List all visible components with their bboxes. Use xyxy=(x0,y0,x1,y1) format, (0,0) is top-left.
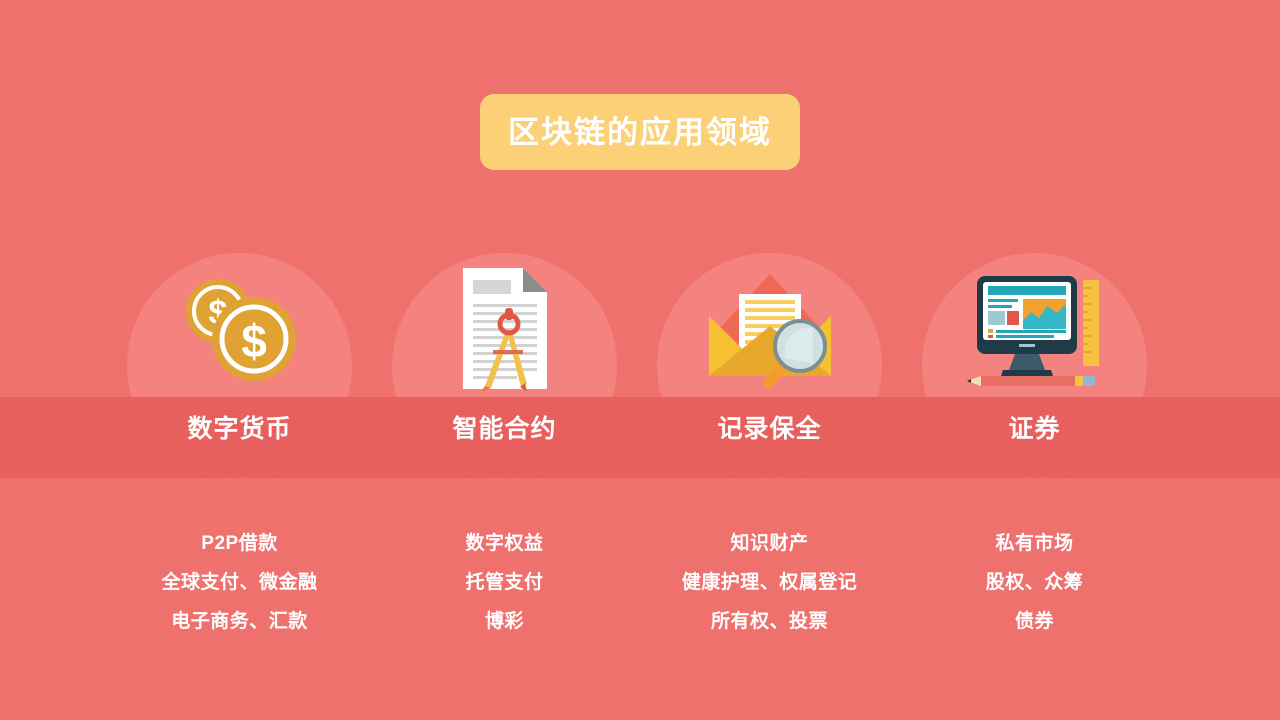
gold-coins-icon: $ $ xyxy=(127,253,352,403)
category-column-smart-contract[interactable]: 智能合约 数字权益 托管支付 博彩 xyxy=(372,253,637,641)
bullet-line: 健康护理、权属登记 xyxy=(637,563,902,602)
category-column-securities[interactable]: 证券 私有市场 股权、众筹 债券 xyxy=(902,253,1167,641)
category-columns: $ $ 数字货币 P2P借款 全球支付、微金融 电子商务、汇款 xyxy=(0,0,1280,720)
bullet-line: 全球支付、微金融 xyxy=(107,563,372,602)
category-circle: 智能合约 xyxy=(392,253,617,478)
monitor-chart-icon xyxy=(922,253,1147,403)
category-bullets: 私有市场 股权、众筹 债券 xyxy=(902,524,1167,641)
bullet-line: 电子商务、汇款 xyxy=(107,602,372,641)
svg-text:$: $ xyxy=(241,315,267,367)
category-bullets: 数字权益 托管支付 博彩 xyxy=(372,524,637,641)
category-label: 智能合约 xyxy=(392,403,617,451)
category-bullets: 知识财产 健康护理、权属登记 所有权、投票 xyxy=(637,524,902,641)
category-column-record-keeping[interactable]: 记录保全 知识财产 健康护理、权属登记 所有权、投票 xyxy=(637,253,902,641)
category-label: 记录保全 xyxy=(657,403,882,451)
document-compass-icon xyxy=(392,253,617,403)
category-circle: $ $ 数字货币 xyxy=(127,253,352,478)
bullet-line: 私有市场 xyxy=(902,524,1167,563)
category-circle: 证券 xyxy=(922,253,1147,478)
category-label: 证券 xyxy=(922,403,1147,451)
bullet-line: 股权、众筹 xyxy=(902,563,1167,602)
bullet-line: 博彩 xyxy=(372,602,637,641)
bullet-line: 所有权、投票 xyxy=(637,602,902,641)
envelope-magnifier-icon xyxy=(657,253,882,403)
category-label: 数字货币 xyxy=(127,403,352,451)
category-bullets: P2P借款 全球支付、微金融 电子商务、汇款 xyxy=(107,524,372,641)
bullet-line: 债券 xyxy=(902,602,1167,641)
category-circle: 记录保全 xyxy=(657,253,882,478)
bullet-line: 知识财产 xyxy=(637,524,902,563)
bullet-line: 数字权益 xyxy=(372,524,637,563)
bullet-line: P2P借款 xyxy=(107,524,372,563)
bullet-line: 托管支付 xyxy=(372,563,637,602)
category-column-digital-currency[interactable]: $ $ 数字货币 P2P借款 全球支付、微金融 电子商务、汇款 xyxy=(107,253,372,641)
